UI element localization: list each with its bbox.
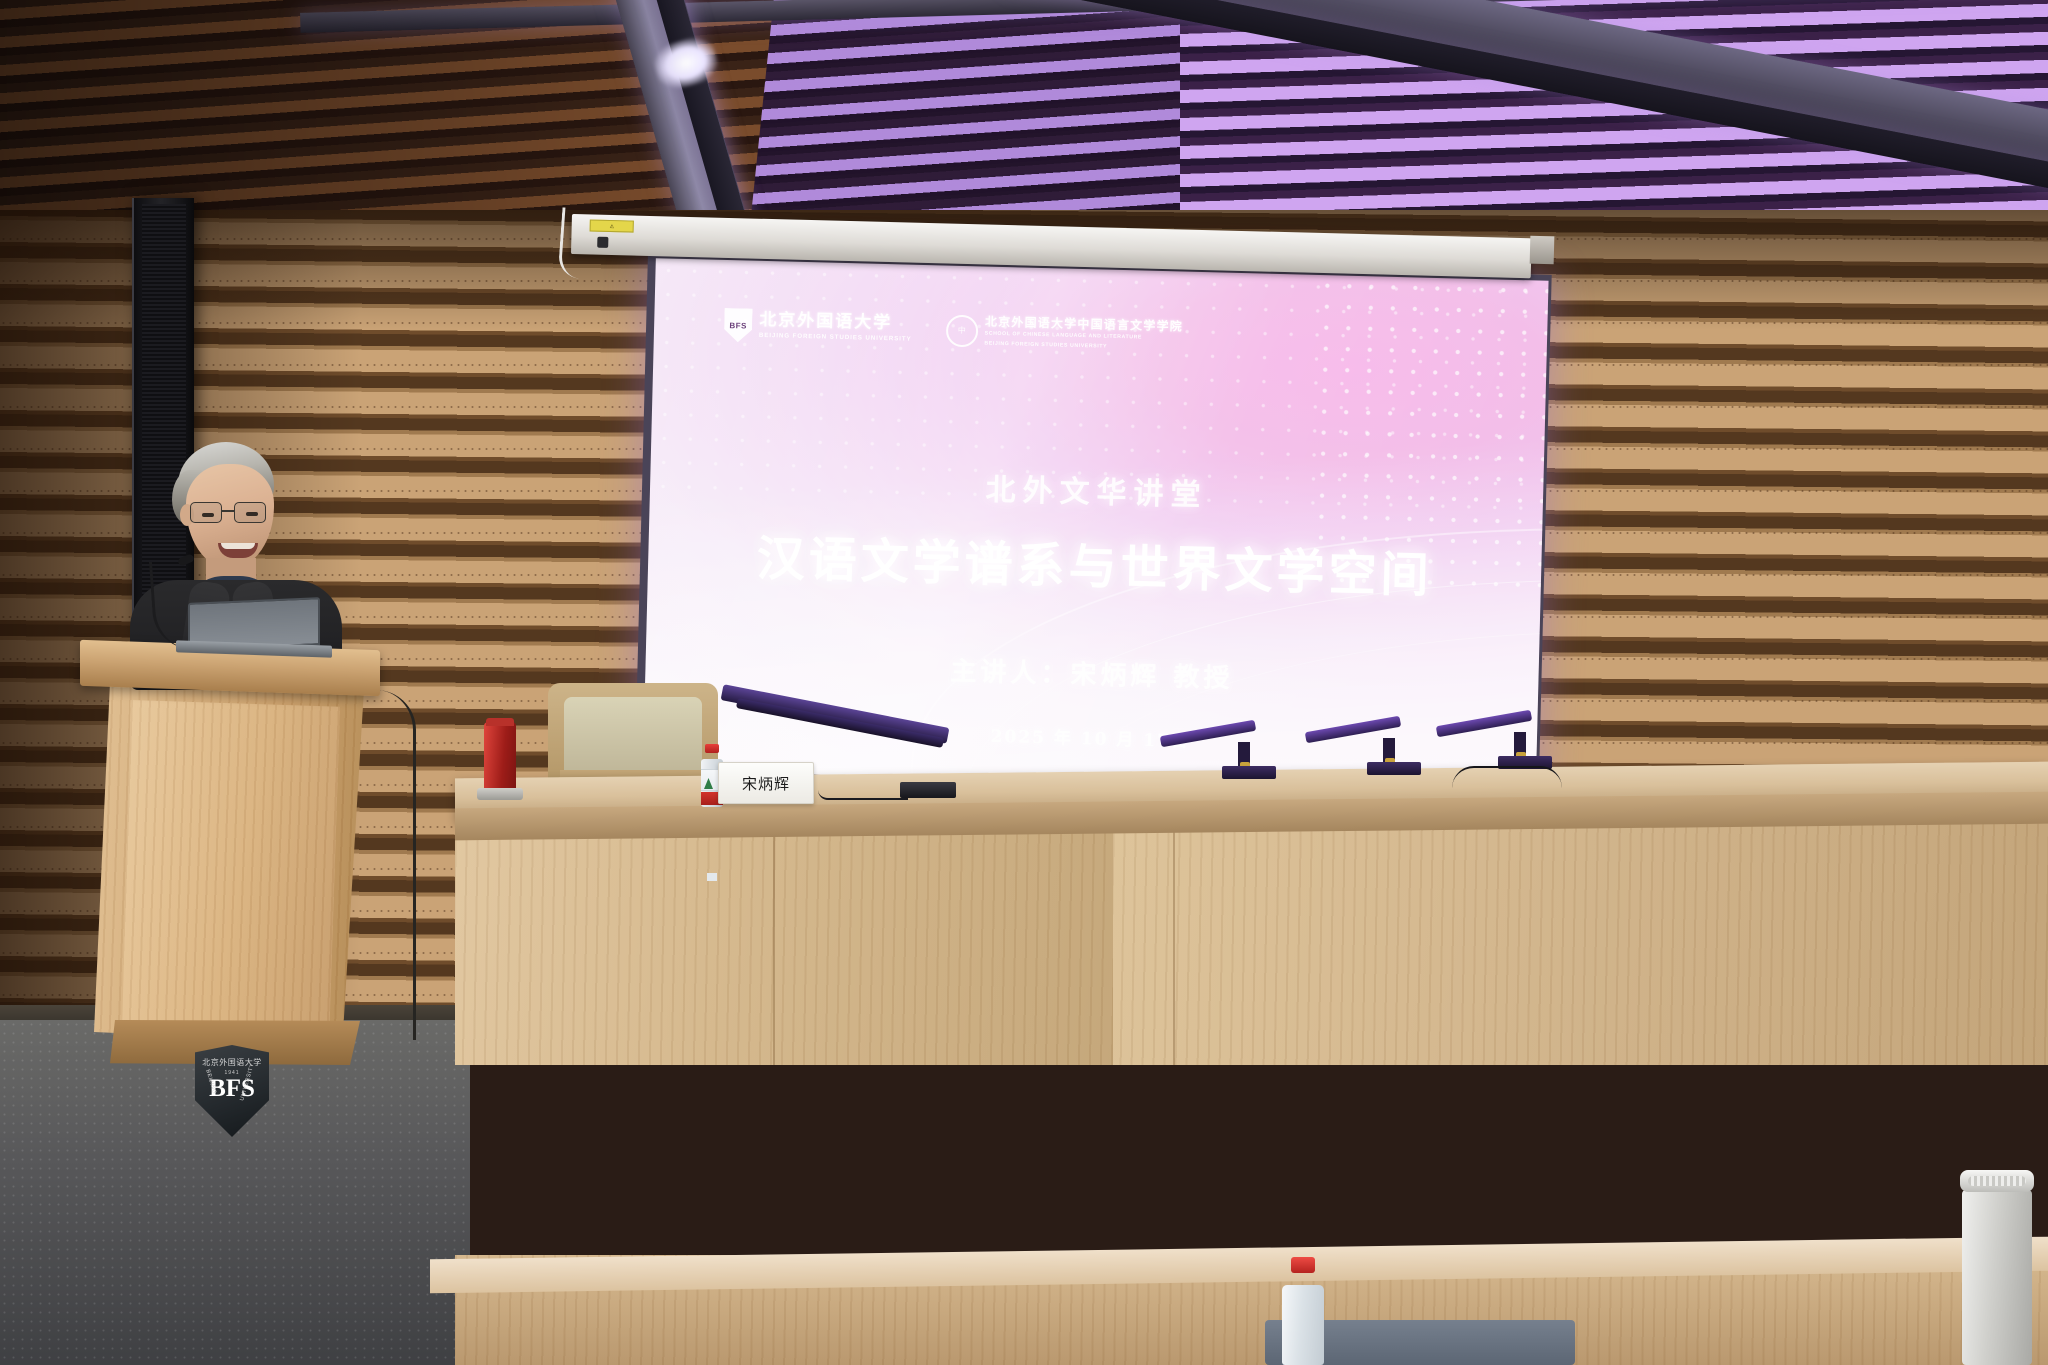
mic-base xyxy=(1367,762,1421,775)
glasses-bridge xyxy=(222,510,234,512)
warning-label-icon: ⚠ xyxy=(590,219,634,232)
glasses-lens-left xyxy=(190,502,222,523)
school-seal-icon: 中 xyxy=(945,315,978,348)
table-grain-left xyxy=(455,824,1115,1065)
speaker-name-card: 宋炳辉 xyxy=(718,762,814,804)
university-name-cn: 北京外国语大学 xyxy=(759,311,912,334)
screen-housing-end-cap xyxy=(1530,236,1555,265)
glasses-icon xyxy=(188,502,274,524)
thermos-cap xyxy=(486,718,514,726)
glasses-lens-right xyxy=(234,502,266,523)
table-microphone-base-box xyxy=(900,782,956,798)
school-logo: 中 北京外国语大学中国语言文学学院 SCHOOL OF CHINESE LANG… xyxy=(945,314,1183,353)
table-microphone-cable-left xyxy=(818,790,908,800)
thermos-coaster xyxy=(477,788,523,800)
podium-floor-cable xyxy=(370,690,416,1040)
bottle-neck xyxy=(707,873,717,881)
university-logo-text: 北京外国语大学 BEIJING FOREIGN STUDIES UNIVERSI… xyxy=(759,311,912,345)
bfs-crest-icon: 北京外国语大学 1941 BFS BEIJING UNIVERSITY xyxy=(195,1045,269,1137)
bfs-shield-text: BFS xyxy=(729,321,747,330)
presider-chair-cushion xyxy=(564,697,702,779)
mic-base xyxy=(1222,766,1276,779)
bfs-shield-icon: BFS xyxy=(724,308,753,343)
vacuum-flask-foreground[interactable] xyxy=(1962,1170,2032,1365)
thermos-flask[interactable] xyxy=(484,720,516,804)
school-seal-text: 中 xyxy=(958,325,966,336)
flask-lid-grip-icon xyxy=(1968,1176,2026,1186)
bottle-cap xyxy=(705,744,719,753)
bottle2-body xyxy=(1282,1285,1324,1365)
school-logo-text: 北京外国语大学中国语言文学学院 SCHOOL OF CHINESE LANGUA… xyxy=(984,315,1183,353)
flask-body xyxy=(1962,1190,2032,1365)
podium-emblem: 北京外国语大学 1941 BFS BEIJING UNIVERSITY xyxy=(195,1045,269,1137)
presenter-teeth xyxy=(221,543,255,549)
table-grain-right xyxy=(1113,814,2048,1065)
table-panel-seam-1 xyxy=(773,824,775,1065)
university-logo: BFS 北京外国语大学 BEIJING FOREIGN STUDIES UNIV… xyxy=(724,308,912,347)
podium-front-grain xyxy=(122,700,340,1040)
bottle2-cap xyxy=(1291,1257,1315,1273)
lecture-hall-photo: ⚠ BFS 北京外国语大学 BEIJING FOREIGN STUDIES UN… xyxy=(0,0,2048,1365)
presider-table-front-right xyxy=(1113,814,2048,1065)
presider-table-front-left xyxy=(455,824,1115,1065)
podium-front-panel xyxy=(122,700,340,1040)
water-bottle-foreground[interactable] xyxy=(1282,1255,1324,1365)
university-name-en: BEIJING FOREIGN STUDIES UNIVERSITY xyxy=(759,332,912,345)
screen-control-button[interactable] xyxy=(597,237,608,248)
thermos-body xyxy=(484,722,516,794)
table-panel-seam-2 xyxy=(1173,814,1175,1065)
table-microphone-cable-right xyxy=(1452,766,1562,788)
